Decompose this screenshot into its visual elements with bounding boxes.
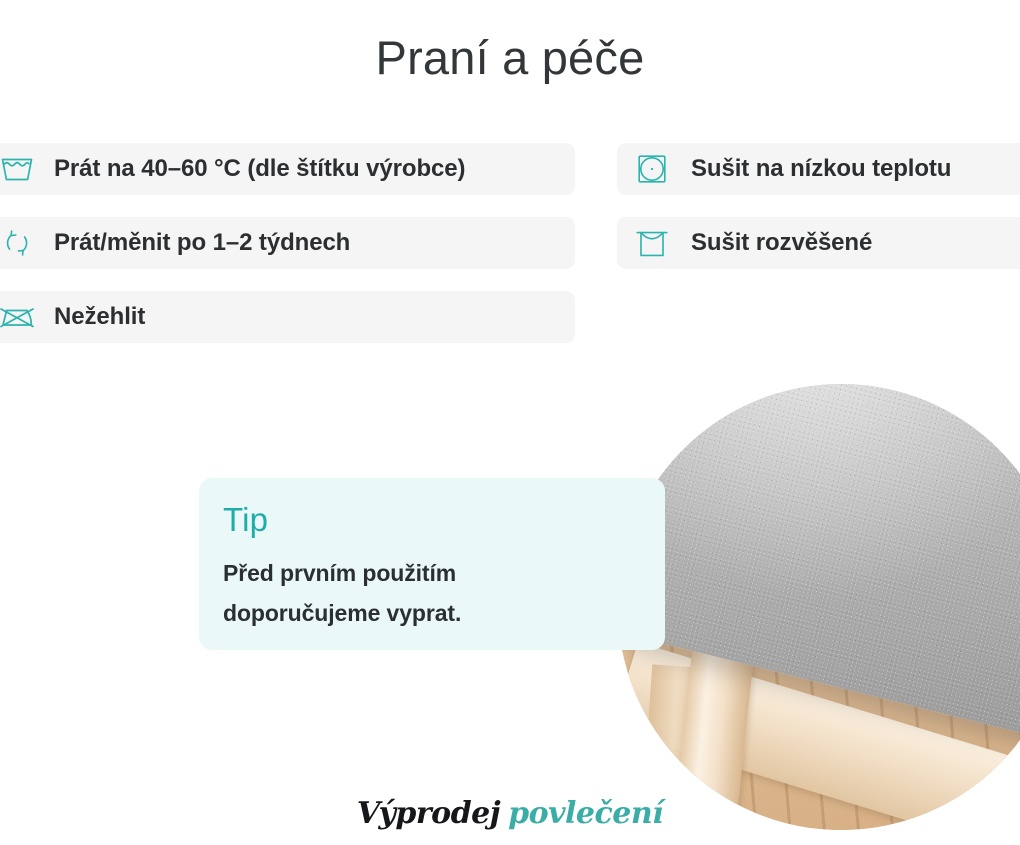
care-instructions-grid: Prát na 40–60 °C (dle štítku výrobce) Pr… <box>0 143 1020 343</box>
care-label: Sušit na nízkou teplotu <box>691 155 951 183</box>
tumble-dry-low-icon <box>635 154 669 184</box>
care-row-wash-temperature[interactable]: Prát na 40–60 °C (dle štítku výrobce) <box>0 143 575 195</box>
tip-text: Před prvním použitím doporučujeme vyprat… <box>223 554 553 633</box>
care-row-no-iron[interactable]: Nežehlit <box>0 291 575 343</box>
brand-logo-word-2: povlečení <box>508 796 663 831</box>
care-column-right: Sušit na nízkou teplotu Sušit rozvěšené <box>617 143 1020 291</box>
product-photo-content <box>618 384 1020 830</box>
care-row-tumble-dry-low[interactable]: Sušit na nízkou teplotu <box>617 143 1020 195</box>
care-label: Prát/měnit po 1–2 týdnech <box>54 229 350 257</box>
product-photo <box>618 384 1020 830</box>
tip-heading: Tip <box>223 502 635 538</box>
care-column-left: Prát na 40–60 °C (dle štítku výrobce) Pr… <box>0 143 575 365</box>
care-row-wash-frequency[interactable]: Prát/měnit po 1–2 týdnech <box>0 217 575 269</box>
care-label: Nežehlit <box>54 303 145 331</box>
brand-logo: Výprodejpovlečení <box>0 796 1020 831</box>
tip-text-line-2: doporučujeme vyprat. <box>223 600 461 626</box>
care-label: Sušit rozvěšené <box>691 229 872 257</box>
refresh-cycle-icon <box>0 228 34 258</box>
tip-card: Tip Před prvním použitím doporučujeme vy… <box>199 478 665 650</box>
care-label: Prát na 40–60 °C (dle štítku výrobce) <box>54 155 465 183</box>
care-row-drip-dry[interactable]: Sušit rozvěšené <box>617 217 1020 269</box>
brand-logo-word-1: Výprodej <box>357 796 500 831</box>
drip-dry-icon <box>635 228 669 258</box>
wash-tub-icon <box>0 154 34 184</box>
no-iron-icon <box>0 302 34 332</box>
page-title: Praní a péče <box>0 29 1020 88</box>
tip-text-line-1: Před prvním použitím <box>223 560 456 586</box>
